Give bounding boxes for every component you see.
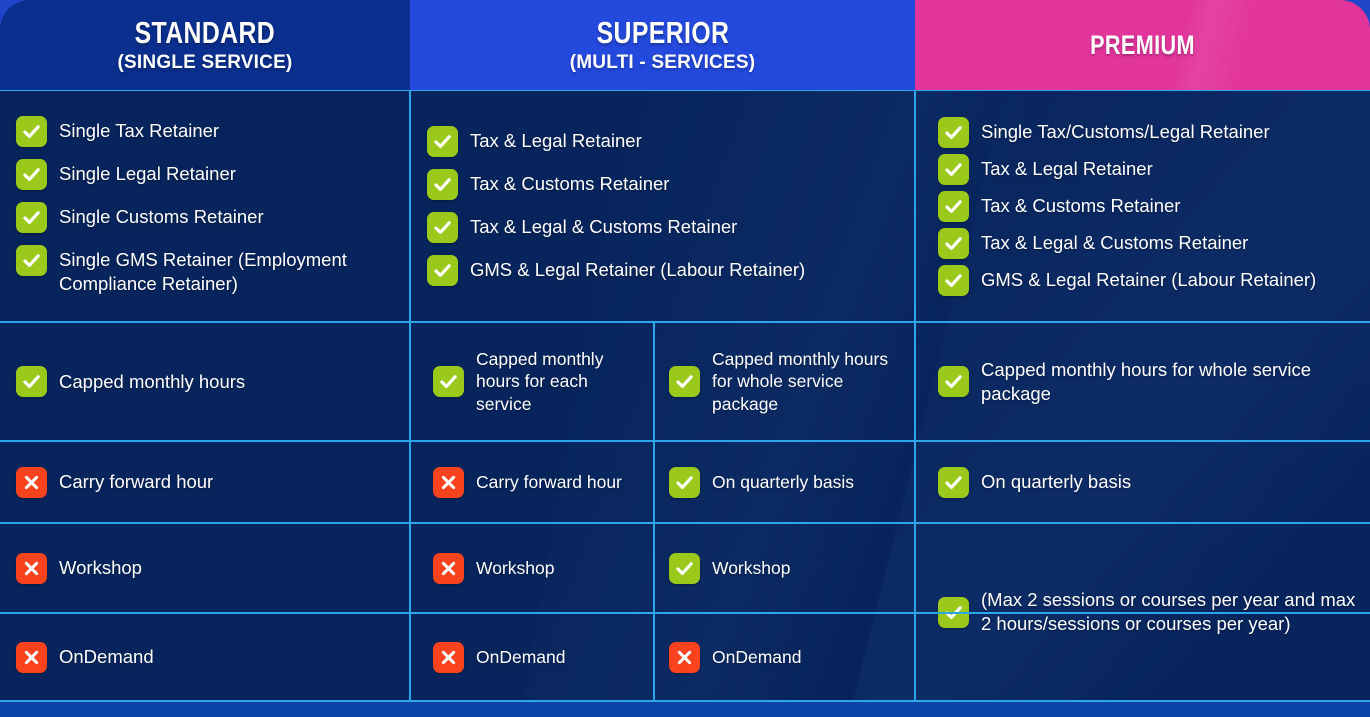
check-icon (938, 366, 969, 397)
list-item: Carry forward hour (16, 467, 395, 498)
list-item-label: Single Tax/Customs/Legal Retainer (981, 117, 1270, 144)
column-title-standard: STANDARD (135, 17, 276, 50)
cross-icon (433, 642, 464, 673)
list-item-label: Carry forward hour (59, 470, 213, 494)
list-item: Tax & Customs Retainer (427, 169, 900, 200)
check-icon (433, 366, 464, 397)
list-item-label: OnDemand (712, 646, 802, 668)
check-icon (427, 255, 458, 286)
footer-strip (0, 702, 1370, 717)
list-item-label: Capped monthly hours for each service (476, 348, 639, 415)
cell-superior-left-carry-forward[interactable]: Carry forward hour (411, 442, 653, 522)
cell-standard-retainers[interactable]: Single Tax Retainer Single Legal Retaine… (0, 91, 409, 321)
cell-superior-left-ondemand[interactable]: OnDemand (411, 614, 653, 700)
list-item: GMS & Legal Retainer (Labour Retainer) (938, 265, 1356, 296)
list-item: (Max 2 sessions or courses per year and … (938, 588, 1356, 635)
list-item-label: Single Tax Retainer (59, 116, 219, 143)
comparison-table: STANDARD (SINGLE SERVICE) SUPERIOR (MULT… (0, 0, 1370, 717)
list-item-label: Tax & Legal & Customs Retainer (470, 212, 737, 239)
table-cells: Single Tax Retainer Single Legal Retaine… (0, 0, 1370, 702)
column-header-standard[interactable]: STANDARD (SINGLE SERVICE) (0, 0, 410, 90)
check-icon (16, 116, 47, 147)
list-item-label: Tax & Customs Retainer (981, 191, 1180, 218)
list-item-label: Workshop (476, 557, 554, 579)
check-icon (16, 366, 47, 397)
column-title-superior: SUPERIOR (596, 17, 729, 50)
list-item: OnDemand (669, 642, 900, 673)
list-item: Single Legal Retainer (16, 159, 395, 190)
list-item-label: OnDemand (476, 646, 566, 668)
check-icon (16, 159, 47, 190)
list-item-label: On quarterly basis (712, 471, 854, 493)
cell-premium-retainers[interactable]: Single Tax/Customs/Legal Retainer Tax & … (916, 91, 1370, 321)
list-item: Carry forward hour (433, 467, 639, 498)
list-item: Capped monthly hours (16, 366, 395, 397)
list-item: Single Customs Retainer (16, 202, 395, 233)
list-item: Capped monthly hours for whole service p… (938, 358, 1356, 405)
list-item: OnDemand (433, 642, 639, 673)
check-icon (669, 553, 700, 584)
cross-icon (669, 642, 700, 673)
list-item-label: GMS & Legal Retainer (Labour Retainer) (470, 255, 805, 282)
cell-superior-right-workshop[interactable]: Workshop (655, 524, 914, 612)
check-icon (16, 245, 47, 276)
cell-superior-right-capped-hours[interactable]: Capped monthly hours for whole service p… (655, 323, 914, 440)
list-item-label: Single GMS Retainer (Employment Complian… (59, 245, 395, 295)
cell-standard-carry-forward[interactable]: Carry forward hour (0, 442, 409, 522)
table-header-row: STANDARD (SINGLE SERVICE) SUPERIOR (MULT… (0, 0, 1370, 90)
check-icon (938, 191, 969, 222)
check-icon (938, 265, 969, 296)
column-subtitle-standard: (SINGLE SERVICE) (118, 53, 293, 73)
list-item: Tax & Legal & Customs Retainer (938, 228, 1356, 259)
check-icon (938, 117, 969, 148)
list-item: OnDemand (16, 642, 395, 673)
list-item-label: Carry forward hour (476, 471, 622, 493)
check-icon (427, 126, 458, 157)
list-item-label: Capped monthly hours for whole service p… (981, 358, 1356, 405)
cell-standard-workshop[interactable]: Workshop (0, 524, 409, 612)
check-icon (16, 202, 47, 233)
column-header-premium[interactable]: PREMIUM (915, 0, 1370, 90)
list-item-label: Capped monthly hours for whole service p… (712, 348, 900, 415)
list-item: Tax & Legal & Customs Retainer (427, 212, 900, 243)
cell-premium-carry-forward[interactable]: On quarterly basis (916, 442, 1370, 522)
list-item-label: On quarterly basis (981, 470, 1131, 494)
list-item: Tax & Legal Retainer (427, 126, 900, 157)
list-item: Workshop (669, 553, 900, 584)
list-item: Capped monthly hours for each service (433, 348, 639, 415)
list-item-label: Tax & Legal Retainer (981, 154, 1153, 181)
list-item: Tax & Legal Retainer (938, 154, 1356, 185)
check-icon (938, 467, 969, 498)
list-item-label: Tax & Legal Retainer (470, 126, 642, 153)
check-icon (669, 366, 700, 397)
cell-superior-right-carry-forward[interactable]: On quarterly basis (655, 442, 914, 522)
list-item: Tax & Customs Retainer (938, 191, 1356, 222)
column-title-premium: PREMIUM (1090, 31, 1195, 60)
cross-icon (16, 642, 47, 673)
cell-premium-workshop-ondemand-note[interactable]: (Max 2 sessions or courses per year and … (916, 524, 1370, 700)
column-header-superior[interactable]: SUPERIOR (MULTI - SERVICES) (410, 0, 915, 90)
list-item-label: Capped monthly hours (59, 370, 245, 394)
cell-standard-ondemand[interactable]: OnDemand (0, 614, 409, 700)
check-icon (669, 467, 700, 498)
cell-premium-capped-hours[interactable]: Capped monthly hours for whole service p… (916, 323, 1370, 440)
cross-icon (433, 467, 464, 498)
list-item: On quarterly basis (938, 467, 1356, 498)
list-item-label: Tax & Customs Retainer (470, 169, 669, 196)
check-icon (938, 597, 969, 628)
list-item-label: Single Customs Retainer (59, 202, 264, 229)
cross-icon (433, 553, 464, 584)
list-item: Single GMS Retainer (Employment Complian… (16, 245, 395, 295)
list-item: Capped monthly hours for whole service p… (669, 348, 900, 415)
column-subtitle-superior: (MULTI - SERVICES) (570, 53, 756, 73)
list-item-label: (Max 2 sessions or courses per year and … (981, 588, 1356, 635)
list-item: On quarterly basis (669, 467, 900, 498)
cross-icon (16, 467, 47, 498)
cross-icon (16, 553, 47, 584)
list-item: Single Tax Retainer (16, 116, 395, 147)
check-icon (938, 228, 969, 259)
cell-superior-right-ondemand[interactable]: OnDemand (655, 614, 914, 700)
cell-standard-capped-hours[interactable]: Capped monthly hours (0, 323, 409, 440)
cell-superior-left-capped-hours[interactable]: Capped monthly hours for each service (411, 323, 653, 440)
cell-superior-left-workshop[interactable]: Workshop (411, 524, 653, 612)
cell-superior-retainers[interactable]: Tax & Legal Retainer Tax & Customs Retai… (411, 91, 914, 321)
list-item-label: Tax & Legal & Customs Retainer (981, 228, 1248, 255)
list-item-label: GMS & Legal Retainer (Labour Retainer) (981, 265, 1316, 292)
check-icon (427, 169, 458, 200)
list-item: GMS & Legal Retainer (Labour Retainer) (427, 255, 900, 286)
list-item-label: Workshop (712, 557, 790, 579)
list-item: Workshop (433, 553, 639, 584)
check-icon (938, 154, 969, 185)
list-item: Workshop (16, 553, 395, 584)
list-item: Single Tax/Customs/Legal Retainer (938, 117, 1356, 148)
list-item-label: Workshop (59, 556, 142, 580)
list-item-label: OnDemand (59, 645, 154, 669)
list-item-label: Single Legal Retainer (59, 159, 236, 186)
check-icon (427, 212, 458, 243)
